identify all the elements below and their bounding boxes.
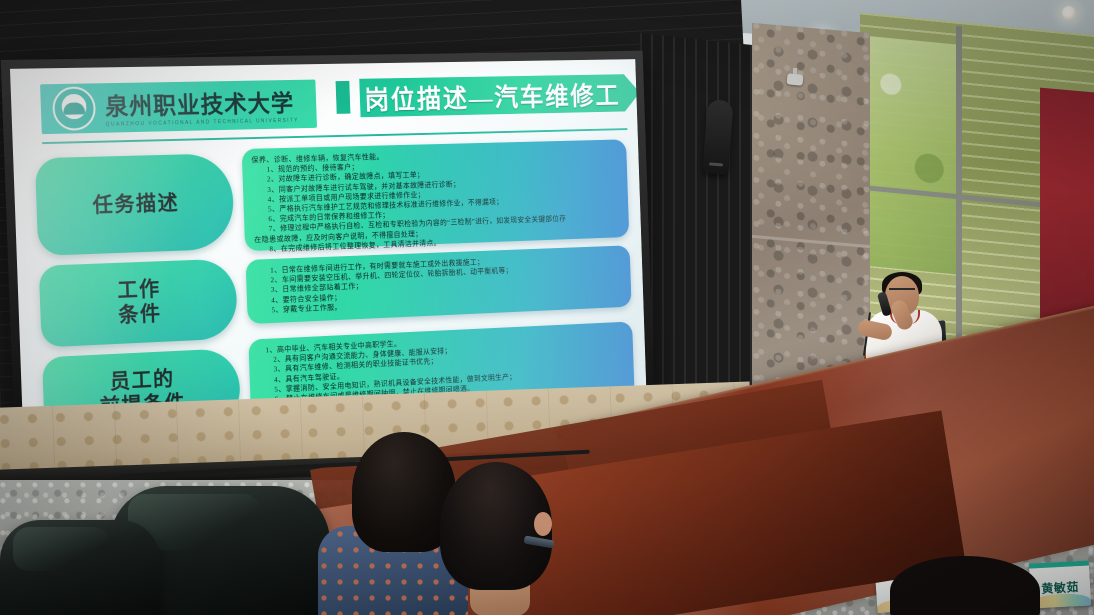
university-seal-icon [52, 86, 96, 131]
presenter-glasses-icon [889, 288, 915, 296]
slide-title: 岗位描述—汽车维修工 [364, 75, 621, 117]
wall-speaker-icon [702, 99, 733, 175]
section-label-line: 工作 [117, 277, 161, 303]
university-logo-bar: 泉州职业技术大学 QUANZHOU VOCATIONAL AND TECHNIC… [40, 80, 317, 135]
section-label-line: 条件 [118, 302, 162, 328]
section-content-task-description: 保养、诊断、维修车辆，恢复汽车性能。 1、规范的预约、接待客户； 2、对故障车进… [242, 139, 630, 251]
attendee-ear [534, 512, 552, 536]
ceiling-downlight-icon [1062, 6, 1076, 20]
slide-title-band: 岗位描述—汽车维修工 [359, 74, 625, 117]
leather-chair-foreground-2 [0, 520, 160, 615]
screenshot-root: 泉州职业技术大学 QUANZHOU VOCATIONAL AND TECHNIC… [0, 0, 1094, 615]
title-accent-bar [336, 81, 351, 114]
red-wall-banner [1040, 88, 1094, 343]
security-camera-icon [786, 73, 803, 86]
section-label-task-description: 任务描述 [35, 153, 235, 256]
window-greenery [862, 35, 958, 274]
section-label-text: 工作 条件 [117, 277, 162, 328]
section-label-text: 任务描述 [92, 190, 179, 217]
section-content-work-conditions: 1、日常在维修车间进行工作，有时需要就车施工或外出救援施工； 2、车间需要安装空… [246, 245, 632, 324]
university-name: 泉州职业技术大学 [105, 93, 295, 120]
name-plate-text: 黄敏茹 [1041, 578, 1079, 597]
section-label-work-conditions: 工作 条件 [39, 258, 238, 347]
